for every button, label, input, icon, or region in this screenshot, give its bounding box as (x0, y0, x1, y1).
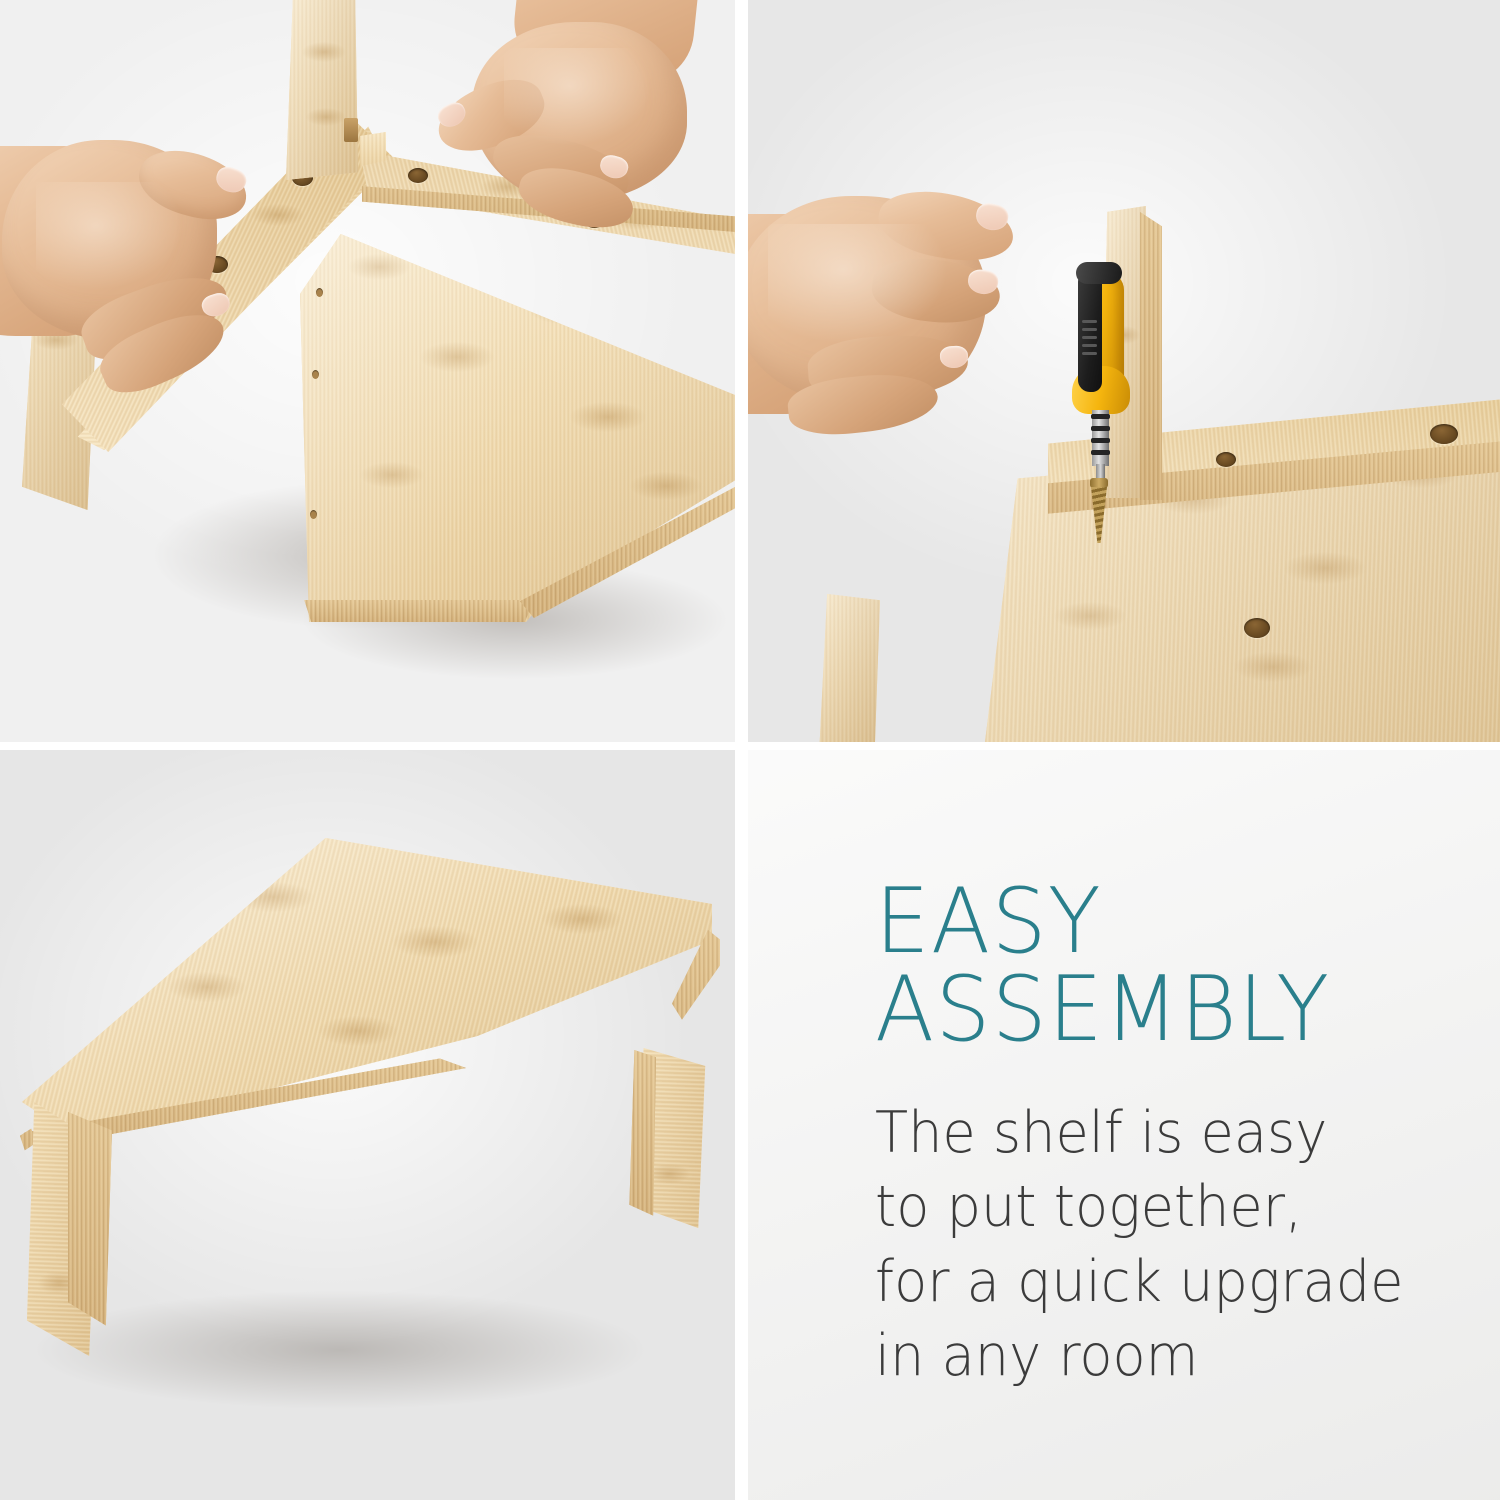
joint-notch (344, 118, 358, 142)
shelf-right-leg-inner (620, 1050, 656, 1230)
finished-shelf-top (22, 838, 712, 1138)
panel-step-3-finished-shelf (0, 750, 735, 1500)
rail-screw-hole (1430, 424, 1458, 444)
deck-screw-hole (1244, 618, 1270, 638)
pilot-hole (312, 370, 319, 379)
left-hand (0, 118, 300, 448)
screw (1086, 478, 1112, 544)
shelf-ground-shadow (30, 1290, 650, 1410)
product-image-canvas: EASY ASSEMBLY The shelf is easy to put t… (0, 0, 1500, 1500)
body-copy: The shelf is easy to put together, for a… (875, 1096, 1407, 1392)
corner-post-side (1140, 212, 1162, 500)
panel-step-1-align-parts (0, 0, 735, 742)
page-title: EASY ASSEMBLY (875, 878, 1413, 1054)
panel-step-2-screw-together (748, 0, 1500, 742)
front-left-leg (814, 594, 880, 742)
pilot-hole (310, 510, 317, 519)
marketing-text-block: EASY ASSEMBLY The shelf is easy to put t… (875, 878, 1435, 1393)
pilot-hole (316, 288, 323, 297)
right-hand (400, 0, 735, 290)
screwdriver-hand (748, 150, 1088, 480)
deck-screw-hole (1216, 452, 1236, 467)
shelf-board-front-edge (302, 600, 534, 622)
